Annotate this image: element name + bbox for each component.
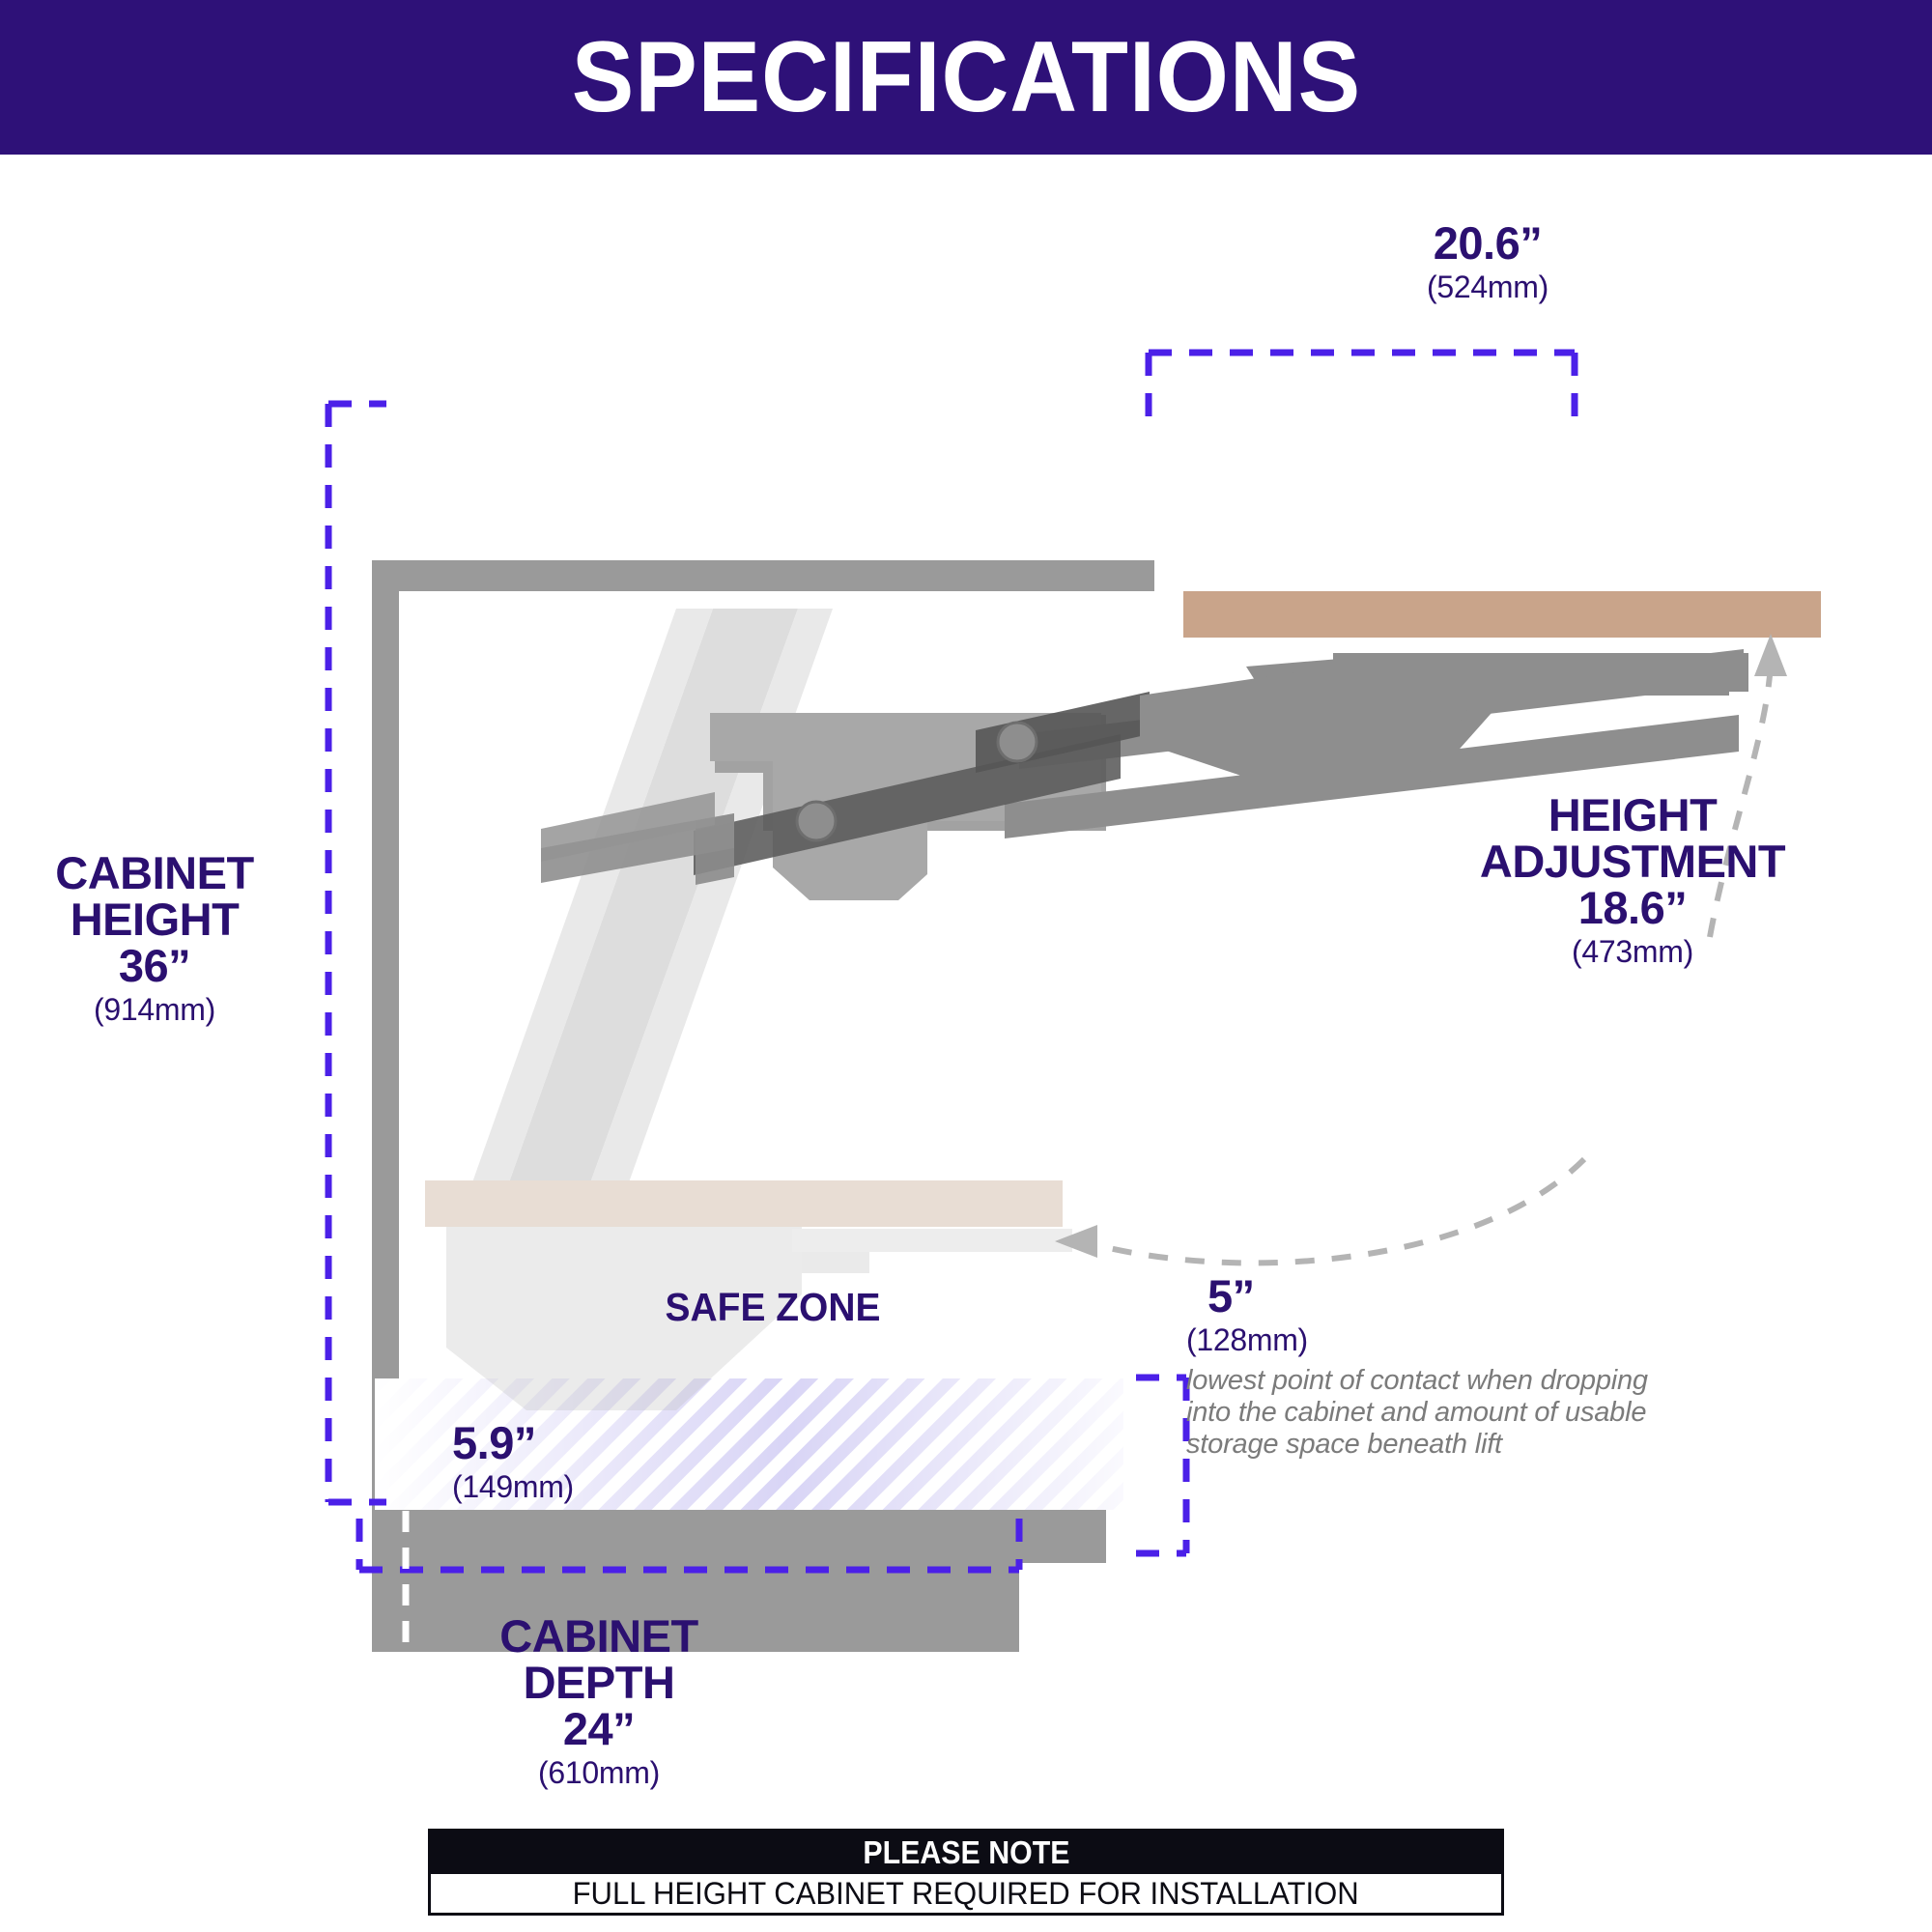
dimension-cabinet-height-label-1: CABINET xyxy=(10,850,299,896)
dimension-height-adjustment-label-2: ADJUSTMENT xyxy=(1391,838,1874,885)
page-title: SPECIFICATIONS xyxy=(571,27,1360,128)
please-note-heading: PLEASE NOTE xyxy=(431,1832,1501,1874)
dimension-cabinet-depth: CABINET DEPTH 24” (610mm) xyxy=(406,1613,792,1788)
dimension-safe-zone-note: lowest point of contact when dropping in… xyxy=(1186,1365,1785,1461)
dimension-height-adjustment-value: 18.6” xyxy=(1391,885,1874,931)
dimension-cabinet-height-label-2: HEIGHT xyxy=(10,896,299,943)
dimension-cabinet-depth-label-2: DEPTH xyxy=(406,1660,792,1706)
dimension-toe-kick-metric: (149mm) xyxy=(452,1471,723,1503)
dimension-cabinet-depth-value: 24” xyxy=(406,1706,792,1752)
shelf-raised xyxy=(1183,591,1821,638)
dimension-cabinet-depth-label-1: CABINET xyxy=(406,1613,792,1660)
dimension-cabinet-height-value: 36” xyxy=(10,943,299,989)
height-adjust-up-arrow-icon xyxy=(1754,634,1787,676)
please-note-heading-text: PLEASE NOTE xyxy=(863,1834,1069,1871)
dimension-height-adjustment-label-1: HEIGHT xyxy=(1391,792,1874,838)
please-note-body-text: FULL HEIGHT CABINET REQUIRED FOR INSTALL… xyxy=(573,1876,1359,1912)
dimension-safe-zone-value: 5” xyxy=(1186,1273,1785,1320)
dimension-safe-zone-height: 5” (128mm) lowest point of contact when … xyxy=(1186,1273,1785,1461)
dimension-cabinet-depth-metric: (610mm) xyxy=(406,1757,792,1789)
specifications-page: SPECIFICATIONS xyxy=(0,0,1932,1932)
please-note-box: PLEASE NOTE FULL HEIGHT CABINET REQUIRED… xyxy=(428,1829,1504,1916)
dimension-toe-kick-value: 5.9” xyxy=(452,1420,723,1466)
dimension-top-width: 20.6” (524mm) xyxy=(1285,220,1690,303)
dimension-cabinet-height-metric: (914mm) xyxy=(10,994,299,1026)
dimension-top-width-metric: (524mm) xyxy=(1285,271,1690,303)
please-note-body: FULL HEIGHT CABINET REQUIRED FOR INSTALL… xyxy=(431,1874,1501,1913)
safe-zone-label: SAFE ZONE xyxy=(608,1285,938,1330)
dimension-cabinet-height: CABINET HEIGHT 36” (914mm) xyxy=(10,850,299,1025)
dimension-safe-zone-metric: (128mm) xyxy=(1186,1324,1785,1356)
dimension-top-width-value: 20.6” xyxy=(1285,220,1690,267)
shelf-lowered xyxy=(425,1180,1063,1227)
dimension-height-adjustment: HEIGHT ADJUSTMENT 18.6” (473mm) xyxy=(1391,792,1874,967)
page-header: SPECIFICATIONS xyxy=(0,0,1932,155)
dimension-height-adjustment-metric: (473mm) xyxy=(1391,936,1874,968)
dimension-toe-kick: 5.9” (149mm) xyxy=(452,1420,723,1503)
